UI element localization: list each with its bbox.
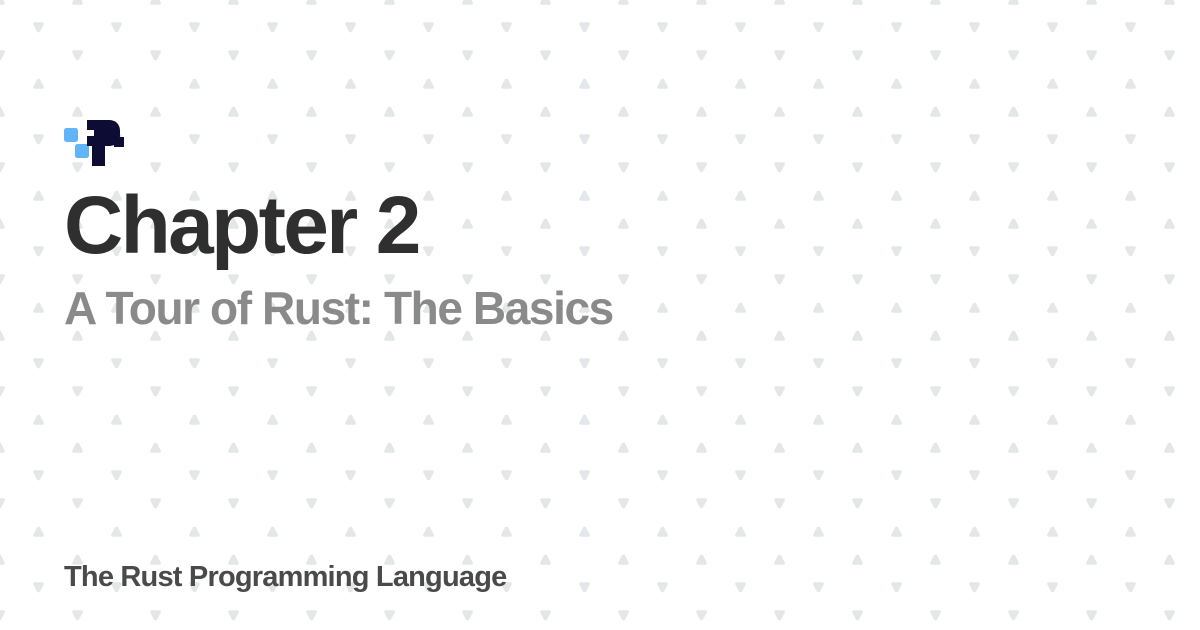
footer-block: The Rust Programming Language	[64, 562, 1136, 594]
logo-accent-square-top	[64, 128, 78, 142]
footer-source-label: The Rust Programming Language	[64, 562, 1136, 594]
brand-logo-icon	[64, 120, 124, 166]
card-content: Chapter 2 A Tour of Rust: The Basics The…	[0, 0, 1200, 630]
page-subtitle: A Tour of Rust: The Basics	[64, 266, 1136, 332]
title-block: Chapter 2 A Tour of Rust: The Basics	[64, 186, 1136, 333]
logo-accent-square-bottom	[75, 144, 89, 158]
logo-dark-notch	[114, 137, 124, 147]
page-title: Chapter 2	[64, 186, 1136, 266]
og-card: Chapter 2 A Tour of Rust: The Basics The…	[0, 0, 1200, 630]
